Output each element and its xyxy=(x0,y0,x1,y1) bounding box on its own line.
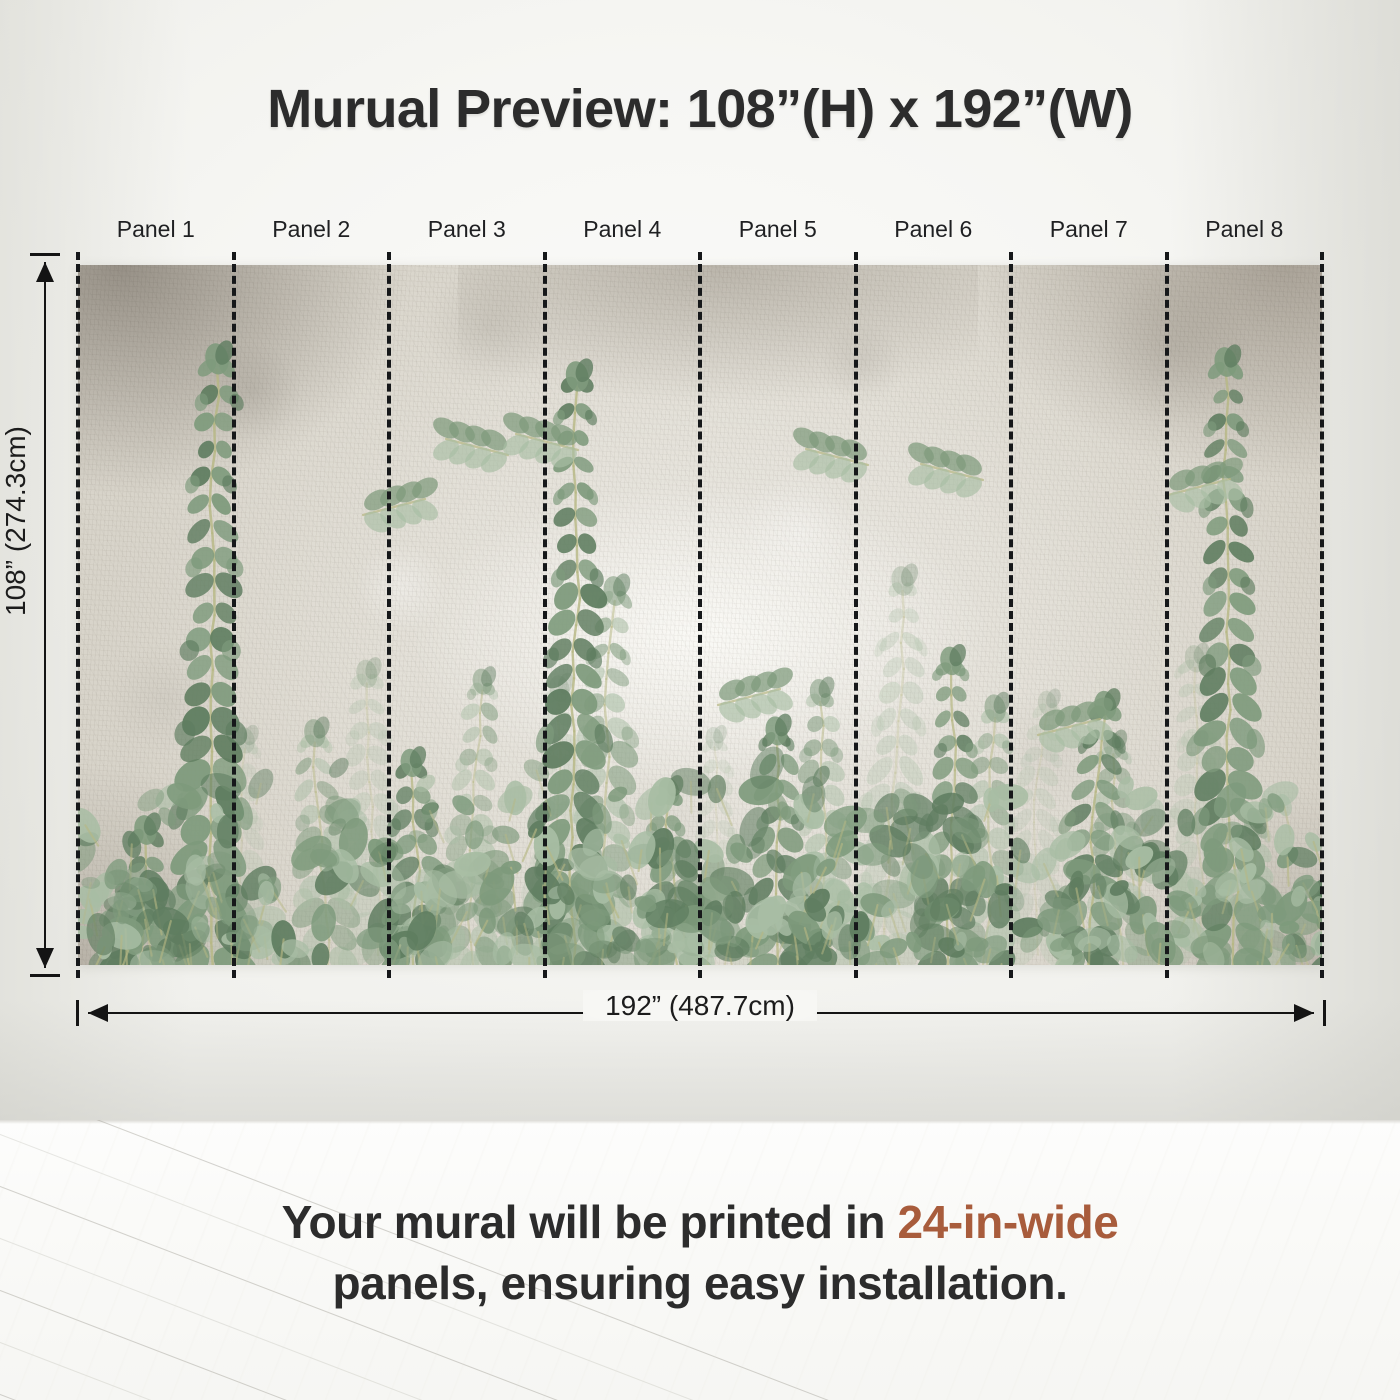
panel-divider-0 xyxy=(76,252,80,978)
panel-label-3: Panel 3 xyxy=(428,216,506,243)
height-arrow-down-icon xyxy=(36,948,54,968)
page-title: Murual Preview: 108”(H) x 192”(W) xyxy=(0,78,1400,140)
floor-plank-line xyxy=(0,1306,1400,1400)
width-dimension-label: 192” (487.7cm) xyxy=(583,990,817,1021)
floor-plank-line xyxy=(0,1358,1400,1400)
panel-label-7: Panel 7 xyxy=(1050,216,1128,243)
caption-line-2: panels, ensuring easy installation. xyxy=(0,1253,1400,1314)
caption-highlight: 24-in-wide xyxy=(897,1196,1118,1248)
floor-wall-junction xyxy=(0,1120,1400,1124)
panel-label-2: Panel 2 xyxy=(272,216,350,243)
height-tick-bottom xyxy=(30,974,60,977)
panel-divider-8 xyxy=(1320,252,1324,978)
panel-divider-6 xyxy=(1009,252,1013,978)
height-arrow-up-icon xyxy=(36,262,54,282)
panel-label-6: Panel 6 xyxy=(894,216,972,243)
panel-label-5: Panel 5 xyxy=(739,216,817,243)
panel-divider-2 xyxy=(387,252,391,978)
width-dimension-label-wrap: 192” (487.7cm) xyxy=(0,990,1400,1022)
mural-preview-graphic: Murual Preview: 108”(H) x 192”(W) Panel … xyxy=(0,0,1400,1400)
caption-line-1: Your mural will be printed in 24-in-wide xyxy=(0,1192,1400,1253)
panel-label-1: Panel 1 xyxy=(117,216,195,243)
panel-label-4: Panel 4 xyxy=(583,216,661,243)
panel-divider-3 xyxy=(543,252,547,978)
panel-label-8: Panel 8 xyxy=(1205,216,1283,243)
panel-divider-5 xyxy=(854,252,858,978)
panel-divider-1 xyxy=(232,252,236,978)
height-tick-top xyxy=(30,253,60,256)
panel-divider-7 xyxy=(1165,252,1169,978)
footer-caption: Your mural will be printed in 24-in-wide… xyxy=(0,1192,1400,1314)
panel-divider-4 xyxy=(698,252,702,978)
caption-line-1-text: Your mural will be printed in xyxy=(282,1196,898,1248)
height-dimension-line xyxy=(44,262,46,968)
height-dimension-label: 108” (274.3cm) xyxy=(0,426,32,616)
